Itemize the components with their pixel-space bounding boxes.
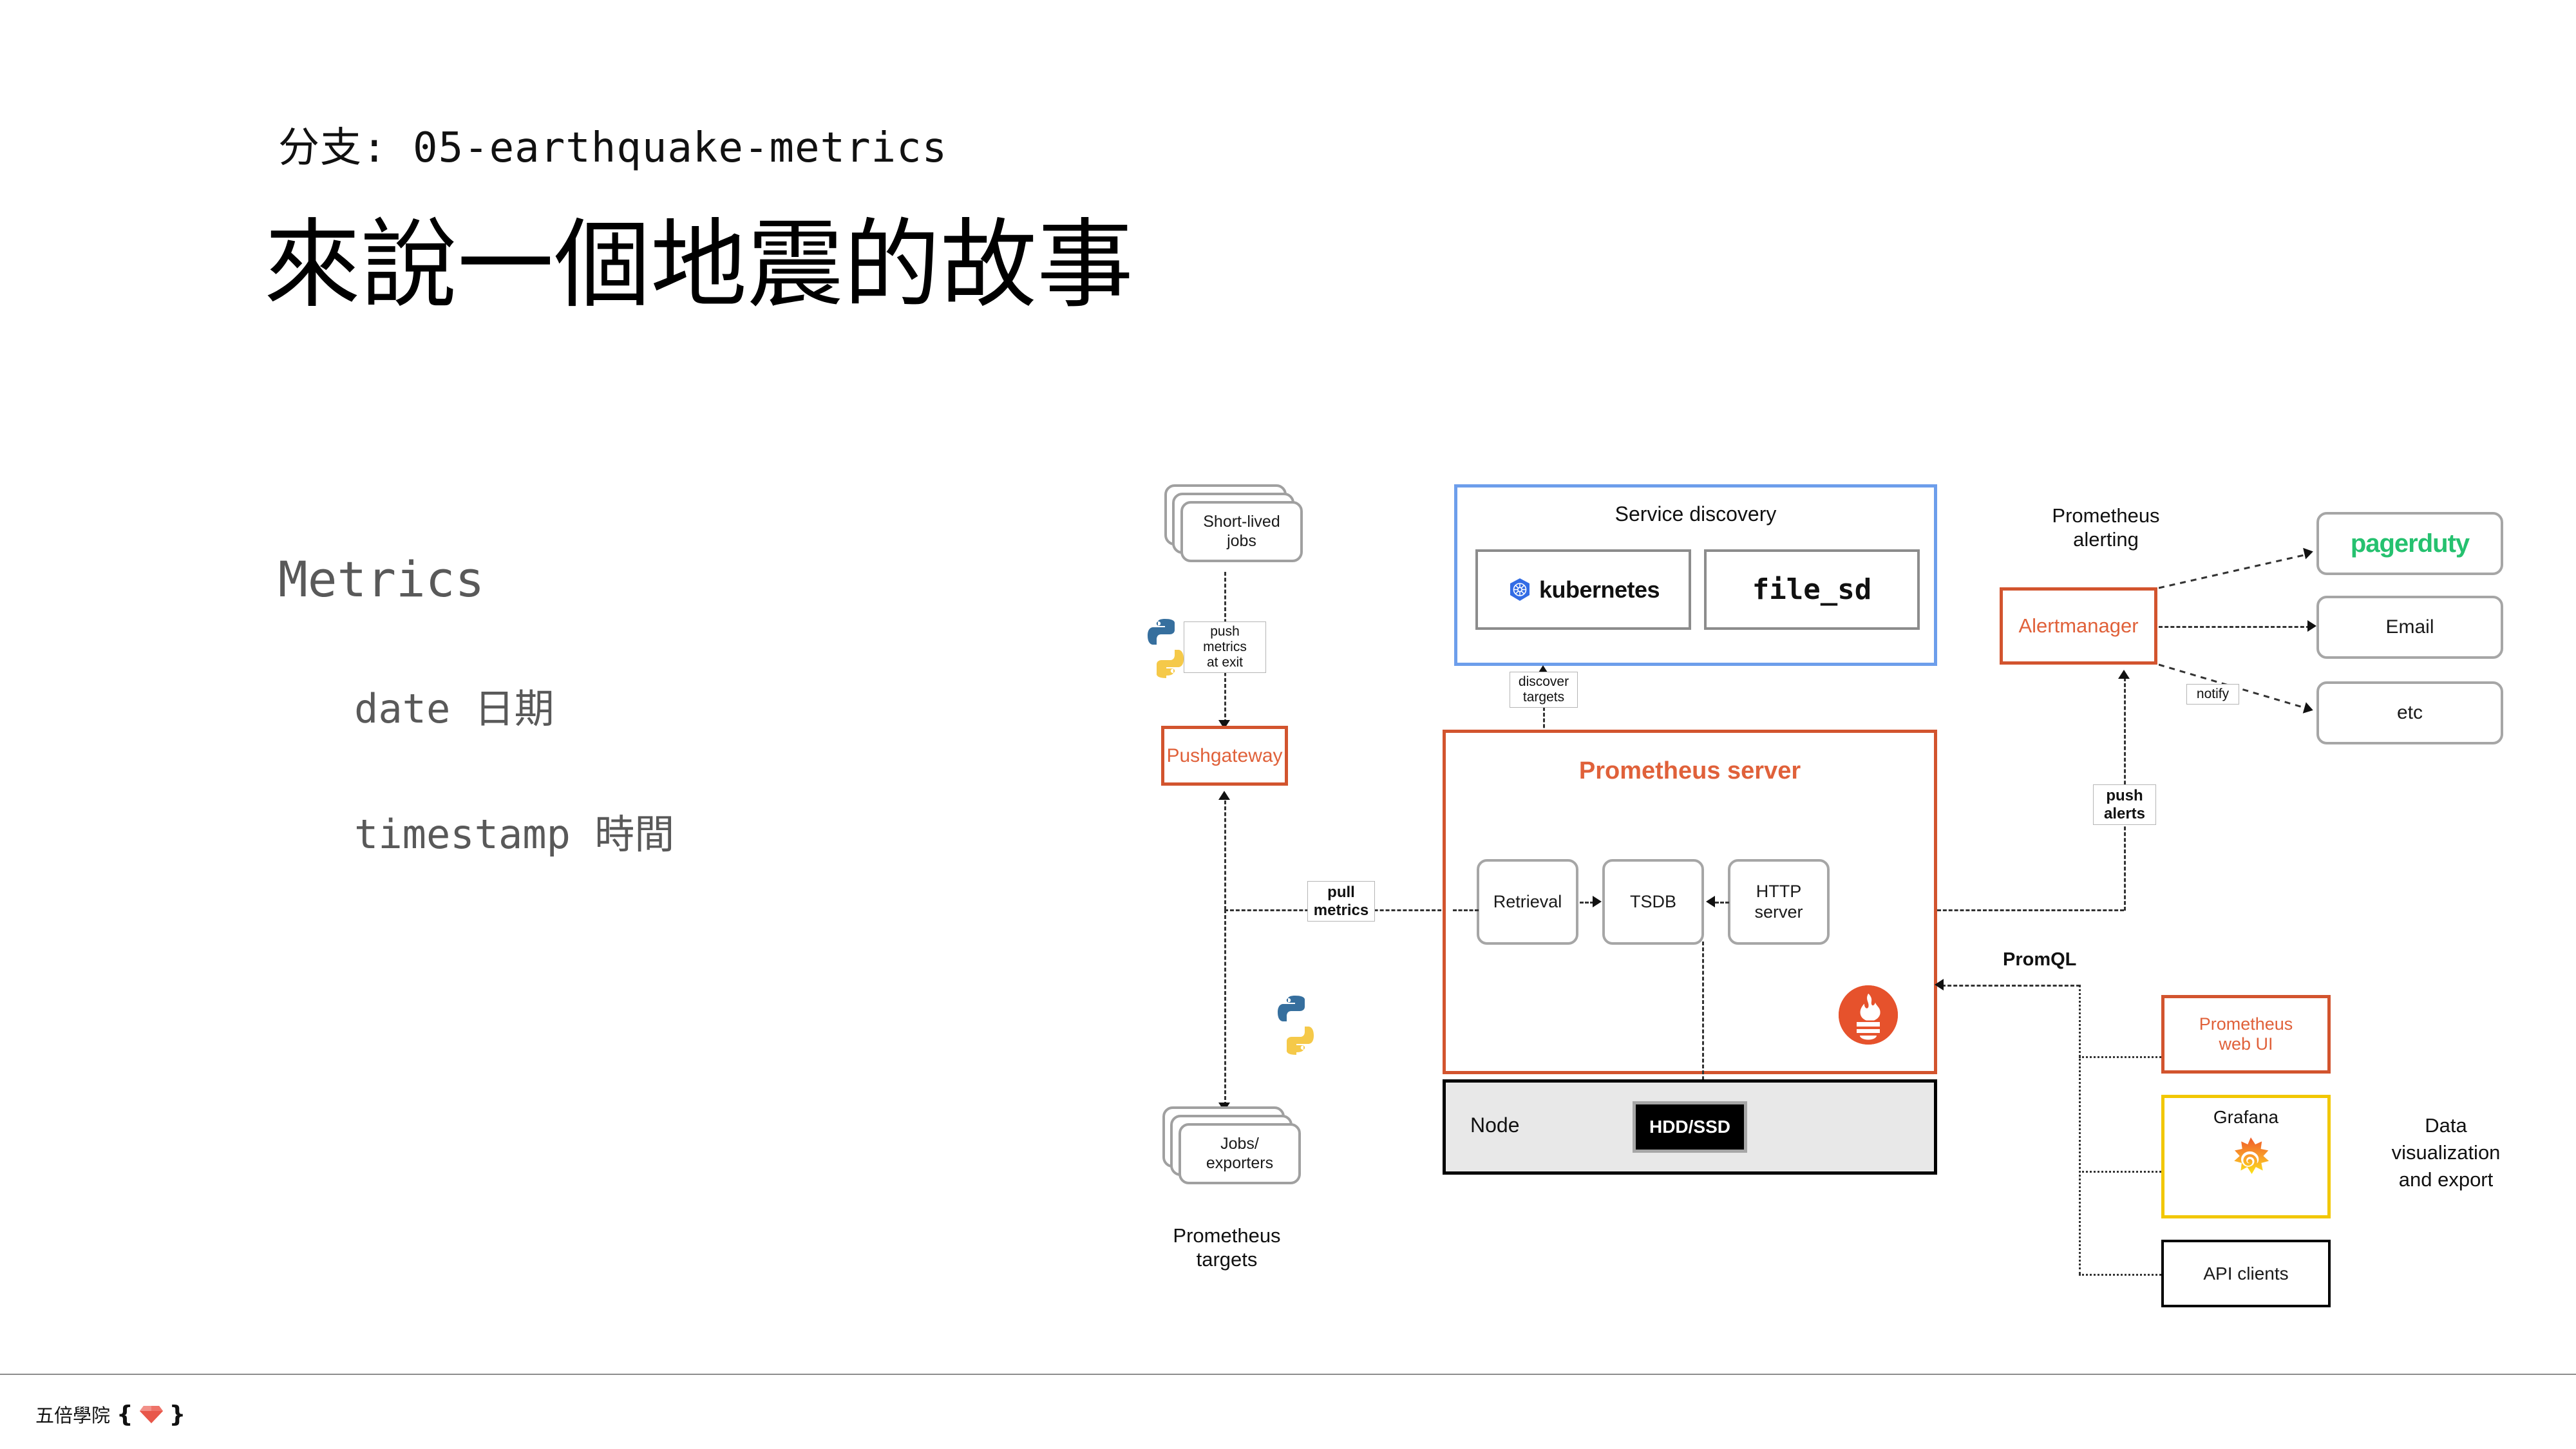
prometheus-alerting-l1: Prometheus [2022, 504, 2190, 527]
service-discovery-panel: Service discovery kubernetes file_sd [1454, 484, 1937, 666]
http-server-label-l2: server [1754, 902, 1803, 923]
push-metrics-l2: at exit [1187, 655, 1263, 670]
file-sd-label: file_sd [1752, 573, 1871, 606]
service-discovery-title: Service discovery [1457, 502, 1934, 526]
prometheus-targets-caption: Prometheus targets [1153, 1224, 1301, 1271]
prometheus-web-ui-box[interactable]: Prometheus web UI [2161, 995, 2331, 1074]
ruby-gem-icon [140, 1405, 163, 1424]
pull-l1: pull [1311, 884, 1372, 902]
footer-divider [0, 1374, 2576, 1375]
node-panel: Node HDD/SSD [1443, 1079, 1937, 1175]
email-box[interactable]: Email [2316, 596, 2503, 659]
api-clients-label: API clients [2203, 1263, 2288, 1284]
short-lived-jobs-label-l2: jobs [1227, 532, 1256, 551]
connector-exporters-to-pushgateway [1224, 800, 1226, 910]
notify-label: notify [2190, 687, 2236, 702]
pagerduty-box[interactable]: pagerduty [2316, 512, 2503, 575]
short-lived-jobs-label-l1: Short-lived [1203, 513, 1280, 532]
connector-alertmanager-pagerduty [2159, 551, 2316, 589]
connector-http-out-right [1937, 909, 2124, 911]
edge-label-push-metrics: push metrics at exit [1184, 621, 1266, 673]
connector-promql-api [2079, 1274, 2161, 1276]
pushgateway-box[interactable]: Pushgateway [1161, 726, 1288, 786]
prometheus-targets-l1: Prometheus [1153, 1224, 1301, 1247]
connector-pull-metrics-v [1224, 909, 1226, 1106]
prometheus-server-panel: Prometheus server Retrieval TSDB HTTP se… [1443, 730, 1937, 1074]
jobs-exporters-box[interactable]: Jobs/ exporters [1179, 1123, 1301, 1184]
prometheus-torch-icon [1839, 985, 1898, 1045]
grafana-spiral-icon [2226, 1135, 2276, 1186]
connector-pull-into-retrieval [1453, 909, 1479, 911]
connector-retrieval-tsdb [1580, 902, 1594, 904]
push-alerts-l1: push [2096, 787, 2153, 805]
discover-l2: targets [1513, 690, 1575, 705]
retrieval-label: Retrieval [1493, 892, 1562, 913]
python-logo-icon-bottom [1264, 992, 1328, 1056]
pushgateway-label: Pushgateway [1166, 744, 1282, 767]
connector-alertmanager-email [2159, 626, 2310, 628]
push-metrics-l1: push metrics [1187, 624, 1263, 655]
short-lived-jobs-box[interactable]: Short-lived jobs [1180, 501, 1303, 562]
prometheus-alerting-l2: alerting [2022, 527, 2190, 551]
tsdb-box[interactable]: TSDB [1602, 859, 1704, 945]
alertmanager-label: Alertmanager [2018, 614, 2138, 638]
connector-http-tsdb [1715, 902, 1729, 904]
etc-label: etc [2397, 701, 2423, 724]
footer-brand-text: 五倍學院 [35, 1401, 110, 1428]
node-label: Node [1470, 1113, 1520, 1137]
prometheus-web-ui-l2: web UI [2219, 1034, 2273, 1054]
brace-close: } [169, 1401, 186, 1428]
pagerduty-label: pagerduty [2351, 529, 2469, 558]
short-lived-jobs-group: Short-lived jobs [1164, 484, 1312, 571]
data-visualization-caption: Data visualization and export [2349, 1112, 2543, 1193]
hdd-ssd-box[interactable]: HDD/SSD [1633, 1101, 1747, 1153]
hdd-ssd-label: HDD/SSD [1649, 1117, 1730, 1137]
connector-promql-h [1942, 985, 2080, 987]
alertmanager-box[interactable]: Alertmanager [2000, 587, 2157, 665]
prometheus-alerting-caption: Prometheus alerting [2022, 504, 2190, 551]
retrieval-box[interactable]: Retrieval [1477, 859, 1578, 945]
push-alerts-l2: alerts [2096, 805, 2153, 823]
grafana-box[interactable]: Grafana [2161, 1095, 2331, 1218]
footer-brand-logo: 五倍學院 { } [35, 1401, 185, 1428]
http-server-box[interactable]: HTTP server [1728, 859, 1830, 945]
prometheus-server-title: Prometheus server [1446, 757, 1934, 785]
jobs-exporters-label-l2: exporters [1206, 1154, 1273, 1173]
edge-label-push-alerts: push alerts [2093, 784, 2156, 825]
kubernetes-box[interactable]: kubernetes [1475, 549, 1691, 630]
file-sd-box[interactable]: file_sd [1704, 549, 1920, 630]
api-clients-box[interactable]: API clients [2161, 1240, 2331, 1307]
arrow-left-server-promql [1935, 979, 1944, 990]
prometheus-targets-l2: targets [1153, 1247, 1301, 1271]
kubernetes-label: kubernetes [1539, 576, 1660, 603]
etc-box[interactable]: etc [2316, 681, 2503, 744]
prometheus-architecture-diagram: Short-lived jobs push metrics at exit Pu… [0, 0, 2576, 1352]
edge-label-discover-targets: discover targets [1510, 672, 1578, 708]
edge-label-pull-metrics: pull metrics [1307, 881, 1375, 922]
discover-l1: discover [1513, 674, 1575, 690]
arrow-left-tsdb [1706, 896, 1715, 907]
tsdb-label: TSDB [1630, 892, 1676, 913]
jobs-exporters-label-l1: Jobs/ [1220, 1135, 1259, 1154]
promql-label: PromQL [2003, 949, 2076, 971]
grafana-label: Grafana [2164, 1107, 2327, 1128]
arrow-up-alertmanager [2118, 670, 2130, 679]
pull-l2: metrics [1311, 902, 1372, 920]
edge-label-notify: notify [2186, 684, 2239, 705]
data-viz-l1: Data [2349, 1112, 2543, 1139]
arrow-right-email [2307, 620, 2316, 632]
http-server-label-l1: HTTP [1756, 882, 1802, 902]
prometheus-web-ui-l1: Prometheus [2199, 1014, 2293, 1034]
connector-promql-grafana [2079, 1171, 2161, 1173]
data-viz-l3: and export [2349, 1166, 2543, 1193]
kubernetes-wheel-icon [1507, 577, 1533, 603]
arrow-right-tsdb [1593, 896, 1602, 907]
connector-promql-v [2079, 985, 2081, 1274]
jobs-exporters-group: Jobs/ exporters [1162, 1106, 1311, 1193]
arrow-right-pagerduty [2303, 546, 2315, 560]
data-viz-l2: visualization [2349, 1139, 2543, 1166]
arrow-up-pushgateway [1218, 791, 1230, 800]
connector-promql-webui [2079, 1056, 2161, 1058]
brace-open: { [117, 1401, 133, 1428]
email-label: Email [2385, 616, 2434, 638]
